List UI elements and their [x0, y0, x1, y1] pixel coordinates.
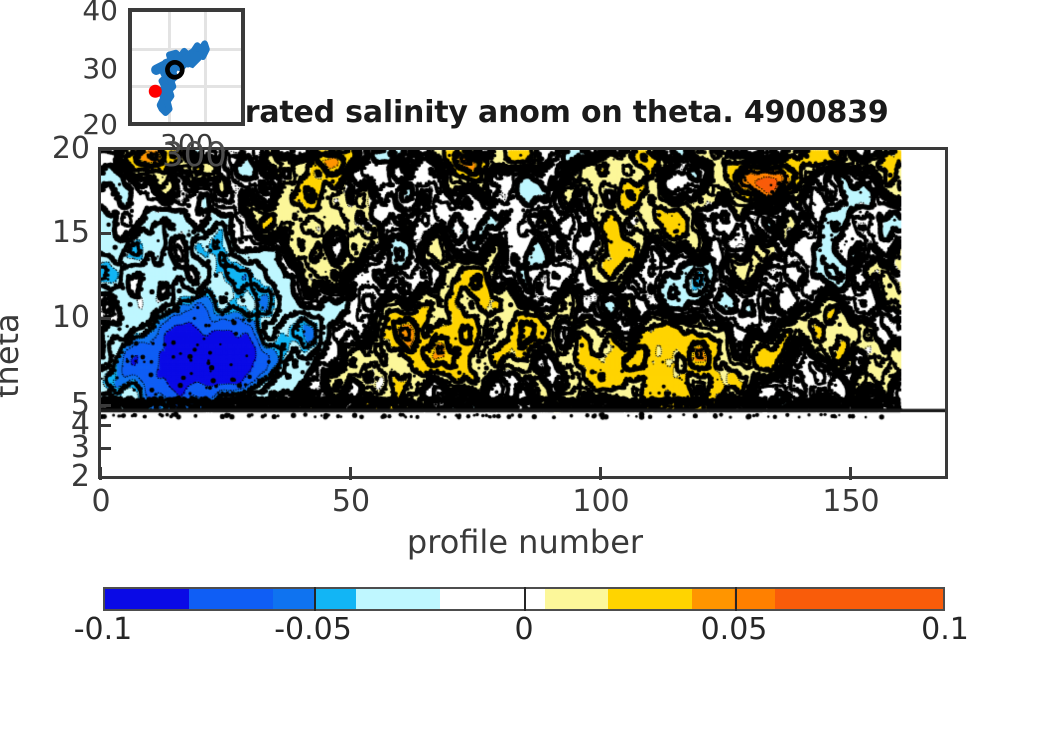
colorbar-band-11 [775, 589, 943, 609]
xtick-label-0: 0 [41, 484, 161, 519]
ytick-mark-15 [98, 232, 111, 235]
colorbar-band-7 [545, 589, 608, 609]
inset-ytick-30: 30 [60, 52, 118, 85]
colorbar-tick-0.1: 0.1 [865, 612, 1025, 647]
inset-ytick-40: 40 [60, 0, 118, 27]
xtick-mark-100 [599, 467, 602, 480]
y-axis-label: theta [0, 313, 26, 398]
xtick-mark-0 [99, 467, 102, 480]
colorbar [103, 587, 945, 611]
colorbar-band-4 [356, 589, 440, 609]
colorbar-divider-0 [314, 587, 316, 611]
colorbar-band-0 [105, 589, 189, 609]
xtick-mark-50 [349, 467, 352, 480]
inset-trajectory-svg [132, 12, 241, 122]
xtick-label-100: 100 [541, 484, 661, 519]
ytick-mark-3 [98, 447, 111, 450]
colorbar-band-2 [273, 589, 315, 609]
inset-ytick-20: 20 [60, 108, 118, 141]
xtick-label-150: 150 [791, 484, 911, 519]
colorbar-band-5 [440, 589, 503, 609]
colorbar-tick--0.1: -0.1 [23, 612, 183, 647]
colorbar-band-8 [608, 589, 692, 609]
inset-trajectory-map [128, 8, 245, 126]
colorbar-tick-0.05: 0.05 [654, 612, 814, 647]
trajectory-path [156, 44, 206, 113]
xtick-label-50: 50 [291, 484, 411, 519]
ytick-mark-10 [98, 317, 111, 320]
colorbar-band-1 [189, 589, 273, 609]
ytick-label-15: 15 [20, 215, 90, 250]
colorbar-tick-0: 0 [444, 612, 604, 647]
colorbar-tick--0.05: -0.05 [233, 612, 393, 647]
ytick-mark-5 [98, 404, 111, 407]
salinity-anomaly-contour [101, 150, 945, 476]
xtick-mark-150 [849, 467, 852, 480]
ytick-mark-4 [98, 424, 111, 427]
contour-plot-axes [98, 147, 948, 479]
ytick-mark-20 [98, 148, 111, 151]
colorbar-band-9 [692, 589, 734, 609]
ytick-label-10: 10 [20, 300, 90, 335]
current-position-dot-icon [149, 85, 162, 98]
colorbar-divider-1 [524, 587, 526, 611]
colorbar-band-10 [734, 589, 776, 609]
colorbar-band-3 [315, 589, 357, 609]
colorbar-divider-2 [735, 587, 737, 611]
contour-label-300: 300 [162, 135, 227, 175]
x-axis-label: profile number [0, 523, 1050, 561]
